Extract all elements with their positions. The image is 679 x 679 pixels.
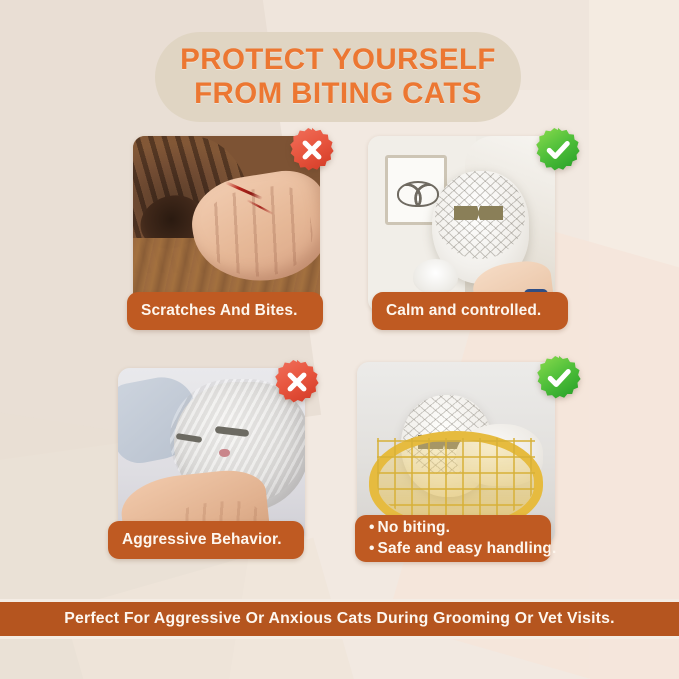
caption-scratches-and-bites: Scratches And Bites. <box>127 292 323 330</box>
caption-line: Scratches And Bites. <box>141 301 309 321</box>
poster-title-pill: PROTECT YOURSELF FROM BITING CATS <box>155 32 521 122</box>
check-badge-icon <box>535 127 581 173</box>
background-right-edge-band <box>589 0 679 679</box>
cat-paw-detail <box>413 259 458 294</box>
product-infographic-poster: PROTECT YOURSELF FROM BITING CATS Scratc… <box>0 0 679 679</box>
white-cat-wearing-mesh-muzzle-held-photo <box>368 136 555 312</box>
feature-card-calm-and-controlled <box>368 136 555 312</box>
bottom-banner-text: Perfect For Aggressive Or Anxious Cats D… <box>64 610 614 628</box>
caption-no-biting-safe-handling: No biting. Safe and easy handling. <box>355 515 551 562</box>
poster-title-line-2: FROM BITING CATS <box>194 77 482 111</box>
cross-badge-icon <box>274 359 320 405</box>
basket-weave-detail <box>377 438 535 522</box>
caption-line: Calm and controlled. <box>386 301 554 321</box>
caption-line: Aggressive Behavior. <box>122 530 290 550</box>
caption-aggressive-behavior: Aggressive Behavior. <box>108 521 304 559</box>
cross-badge-icon <box>289 127 335 173</box>
caption-line: No biting. <box>369 518 537 538</box>
cat-eyes-detail <box>454 206 503 220</box>
caption-calm-and-controlled: Calm and controlled. <box>372 292 568 330</box>
card-photo-calm-and-controlled <box>368 136 555 312</box>
poster-title-line-1: PROTECT YOURSELF <box>180 43 496 77</box>
check-badge-icon <box>536 355 582 401</box>
caption-line: Safe and easy handling. <box>369 539 537 559</box>
bottom-banner: Perfect For Aggressive Or Anxious Cats D… <box>0 599 679 639</box>
